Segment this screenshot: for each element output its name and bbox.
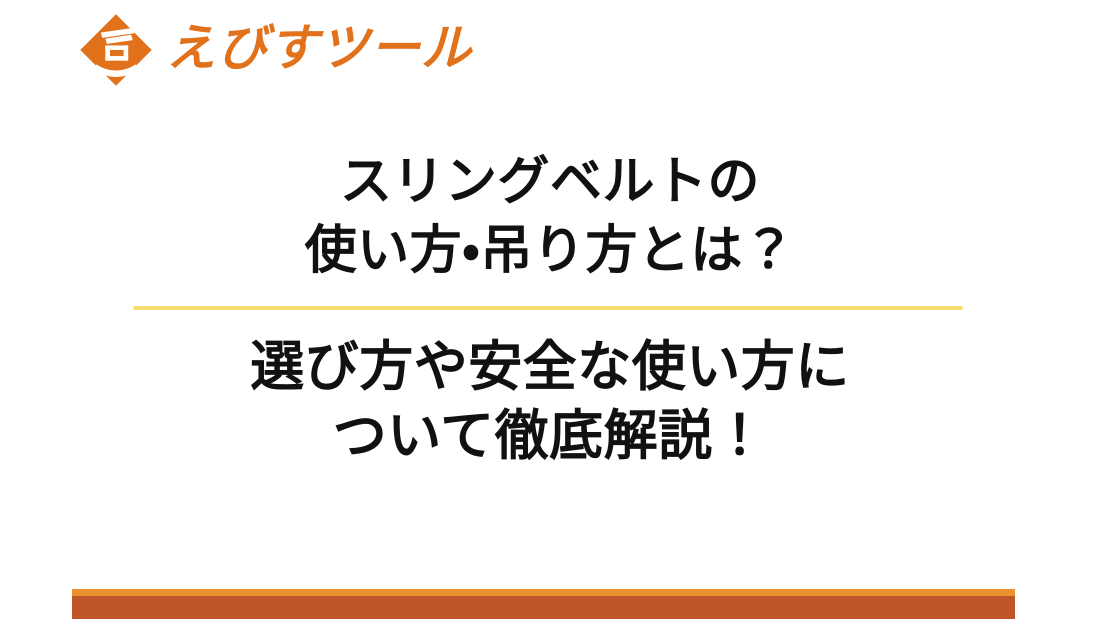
page-title-line-2: 使い方・吊り方とは？	[0, 217, 1100, 286]
page-subtitle-line-1: 選び方や安全な使い方に	[0, 332, 1100, 401]
brand-wordmark: えびすツール	[166, 23, 472, 73]
page-subtitle-line-2: ついて徹底解説！	[0, 401, 1100, 470]
page-title: スリングベルトの 使い方・吊り方とは？	[0, 148, 1100, 285]
title-divider	[133, 306, 963, 310]
bottom-accent-bar	[72, 589, 1015, 619]
brand-logo: えびすツール	[78, 11, 472, 89]
page-title-line-1: スリングベルトの	[0, 148, 1100, 217]
bottom-accent-bar-stripe	[72, 589, 1015, 596]
page-subtitle: 選び方や安全な使い方に ついて徹底解説！	[0, 332, 1100, 470]
ebisu-tool-diamond-mark-icon	[78, 12, 154, 88]
eyecatch-slide: えびすツール スリングベルトの 使い方・吊り方とは？ 選び方や安全な使い方に つ…	[0, 0, 1100, 619]
